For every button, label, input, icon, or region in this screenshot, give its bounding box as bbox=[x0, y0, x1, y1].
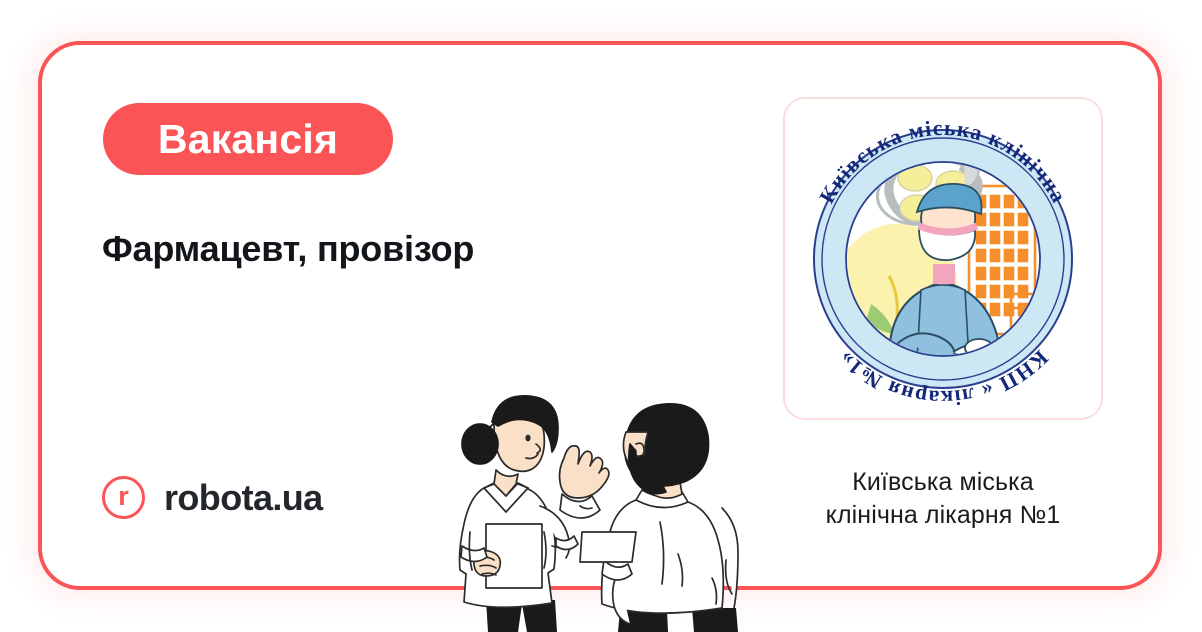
robota-wordmark: robota.ua bbox=[164, 480, 323, 516]
job-title: Фармацевт, провізор bbox=[102, 228, 474, 270]
robota-circle-icon: r bbox=[102, 476, 145, 519]
employer-name: Київська міська клінічна лікарня №1 bbox=[783, 466, 1103, 532]
vacancy-badge-label: Вакансія bbox=[158, 119, 338, 160]
man-figure bbox=[560, 404, 739, 632]
employer-name-line-1: Київська міська bbox=[783, 466, 1103, 499]
employer-logo-frame: Київська міська клінічна КНП « лікарня №… bbox=[783, 97, 1103, 420]
employer-name-line-2: клінічна лікарня №1 bbox=[783, 499, 1103, 532]
vacancy-banner: Вакансія Фармацевт, провізор r robota.ua bbox=[0, 0, 1202, 632]
woman-figure bbox=[460, 396, 579, 632]
robota-ua-logo[interactable]: r robota.ua bbox=[102, 476, 323, 519]
vacancy-badge: Вакансія bbox=[103, 103, 393, 175]
people-illustration bbox=[440, 382, 770, 632]
hospital-emblem-icon: Київська міська клінічна КНП « лікарня №… bbox=[793, 108, 1093, 410]
robota-mark-letter: r bbox=[118, 483, 129, 510]
